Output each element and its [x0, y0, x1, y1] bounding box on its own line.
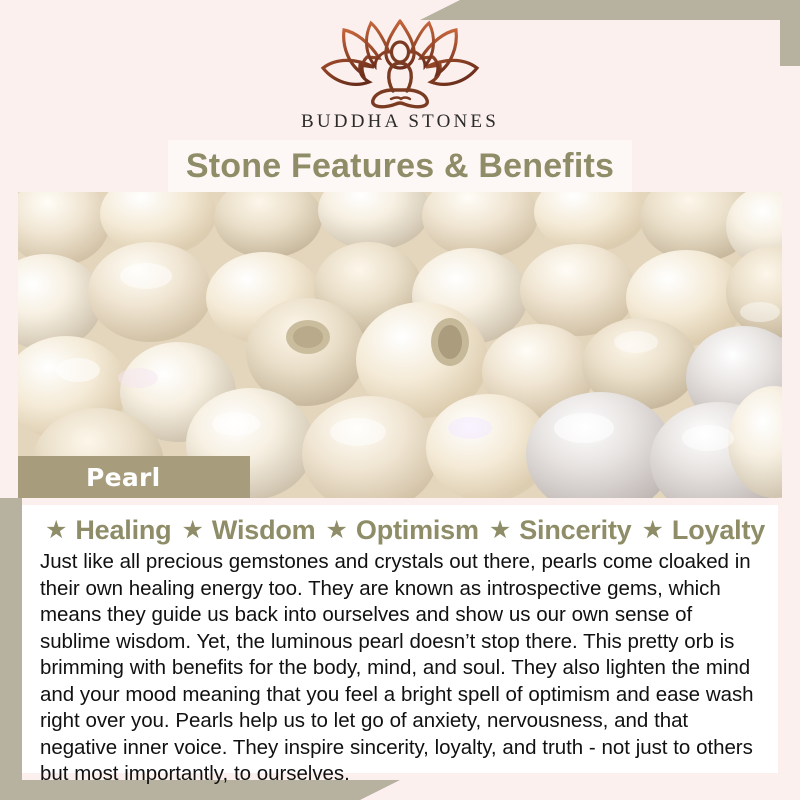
benefit-label: Sincerity	[519, 515, 631, 546]
star-icon: ★	[181, 518, 203, 543]
stone-name: Pearl	[18, 463, 161, 492]
benefit-label: Loyalty	[672, 515, 765, 546]
benefit-label: Wisdom	[212, 515, 316, 546]
stone-description: Just like all precious gemstones and cry…	[36, 549, 764, 788]
star-icon: ★	[325, 518, 347, 543]
logo-wrap: BUDDHA STONES	[0, 18, 800, 131]
poster-canvas: BUDDHA STONES Stone Features & Benefits	[0, 0, 800, 800]
page-title: Stone Features & Benefits	[186, 147, 614, 186]
frame-band-left	[0, 498, 22, 800]
content-card: ★ Healing ★ Wisdom ★ Optimism ★ Sincerit…	[22, 505, 778, 773]
benefit-item: ★ Healing	[35, 515, 172, 546]
title-plaque: Stone Features & Benefits	[168, 140, 632, 192]
lotus-meditation-icon	[0, 18, 800, 110]
benefit-item: ★ Optimism	[315, 515, 478, 546]
star-icon: ★	[642, 518, 664, 543]
star-icon: ★	[489, 518, 511, 543]
benefit-label: Healing	[75, 515, 171, 546]
benefit-item: ★ Wisdom	[171, 515, 315, 546]
benefit-item: ★ Sincerity	[479, 515, 632, 546]
benefit-item: ★ Loyalty	[632, 515, 766, 546]
brand-name: BUDDHA STONES	[0, 112, 800, 131]
stone-name-tag: Pearl	[18, 456, 250, 498]
star-icon: ★	[45, 518, 67, 543]
benefits-row: ★ Healing ★ Wisdom ★ Optimism ★ Sincerit…	[36, 513, 764, 547]
pearl-photo: Pearl	[18, 192, 782, 498]
benefit-label: Optimism	[356, 515, 479, 546]
